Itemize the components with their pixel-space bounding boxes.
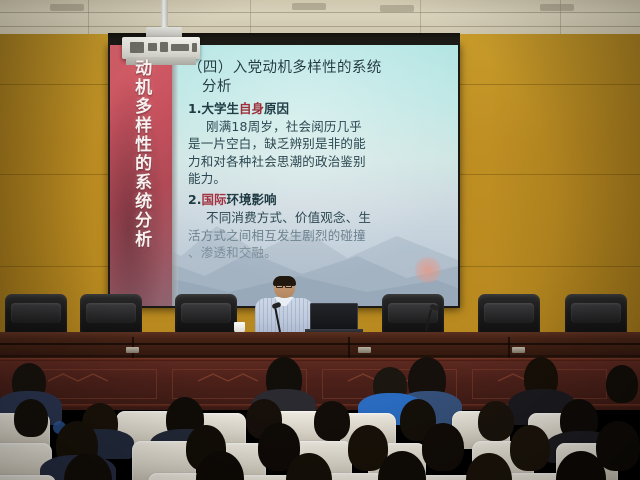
point1-number: 1. bbox=[188, 101, 201, 116]
stage-chair bbox=[5, 294, 67, 334]
audience-head bbox=[314, 401, 350, 441]
slide-point-1-body-line: 力和对各种社会思潮的政治鉴别 bbox=[188, 154, 448, 171]
banner-edge bbox=[172, 45, 178, 306]
slide-point-1-body-line: 是一片空白，缺乏辨别是非的能 bbox=[188, 136, 448, 153]
slide-banner-text: 动机多样性的系统分析 bbox=[129, 59, 153, 249]
audience-head bbox=[606, 365, 638, 403]
stage-chair bbox=[478, 294, 540, 334]
audience-seat bbox=[0, 475, 56, 480]
audience-head bbox=[478, 401, 514, 441]
ceiling-vent bbox=[50, 4, 84, 11]
stage-chair bbox=[565, 294, 627, 334]
speaker-glasses bbox=[276, 285, 283, 288]
slide-point-2-heading: 2.国际环境影响 bbox=[188, 192, 448, 209]
audience bbox=[0, 355, 640, 480]
ceiling-vent bbox=[292, 3, 326, 10]
stage-chair bbox=[80, 294, 142, 334]
point2-number: 2. bbox=[188, 192, 201, 207]
stage-chair bbox=[175, 294, 237, 334]
slide-side-banner: 动机多样性的系统分析 bbox=[110, 45, 172, 306]
point2-tail: 环境影响 bbox=[226, 192, 276, 207]
slide-point-1-body-line: 刚满18周岁，社会阅历几乎 bbox=[188, 119, 448, 136]
point1-lead: 大学生 bbox=[201, 101, 239, 116]
projection-screen: 动机多样性的系统分析 （四）入党动机多样性的系统 分析 1.大学生自身原因 刚满… bbox=[110, 45, 458, 306]
speaker-glasses bbox=[285, 285, 292, 288]
ceiling-vent bbox=[540, 4, 574, 11]
table-cable-port bbox=[126, 347, 139, 353]
audience-head bbox=[14, 399, 48, 437]
slide-point-2-body-line: 、渗透和交融。 bbox=[188, 245, 448, 262]
projection-screen-frame: 动机多样性的系统分析 （四）入党动机多样性的系统 分析 1.大学生自身原因 刚满… bbox=[108, 43, 460, 308]
stage-chair bbox=[382, 294, 444, 334]
table-cable-port bbox=[358, 347, 371, 353]
ceiling-vent bbox=[380, 5, 414, 12]
point1-highlight: 自身 bbox=[239, 101, 264, 116]
slide-point-2-body-line: 不同消费方式、价值观念、生 bbox=[188, 210, 448, 227]
slide-title-line1: （四）入党动机多样性的系统 bbox=[188, 60, 382, 76]
speaker bbox=[252, 276, 316, 334]
point1-tail: 原因 bbox=[264, 101, 289, 116]
projector-mount-pole bbox=[161, 0, 168, 30]
point2-highlight: 国际 bbox=[201, 192, 226, 207]
table-cable-port bbox=[512, 347, 525, 353]
laptop bbox=[310, 303, 358, 331]
slide-point-1-body-line: 能力。 bbox=[188, 171, 448, 188]
ceiling-projector bbox=[122, 37, 200, 59]
audience-head bbox=[596, 421, 640, 471]
slide-point-2-body-line: 活方式之间相互发生剧烈的碰撞 bbox=[188, 228, 448, 245]
slide-title: （四）入党动机多样性的系统 分析 bbox=[188, 59, 448, 97]
slide-content: （四）入党动机多样性的系统 分析 1.大学生自身原因 刚满18周岁，社会阅历几乎… bbox=[188, 59, 448, 298]
slide-point-1-heading: 1.大学生自身原因 bbox=[188, 101, 448, 118]
audience-head bbox=[422, 423, 464, 471]
slide-title-line2: 分析 bbox=[188, 78, 448, 97]
audience-head bbox=[510, 425, 550, 471]
lecture-hall-photo: 动机多样性的系统分析 （四）入党动机多样性的系统 分析 1.大学生自身原因 刚满… bbox=[0, 0, 640, 480]
